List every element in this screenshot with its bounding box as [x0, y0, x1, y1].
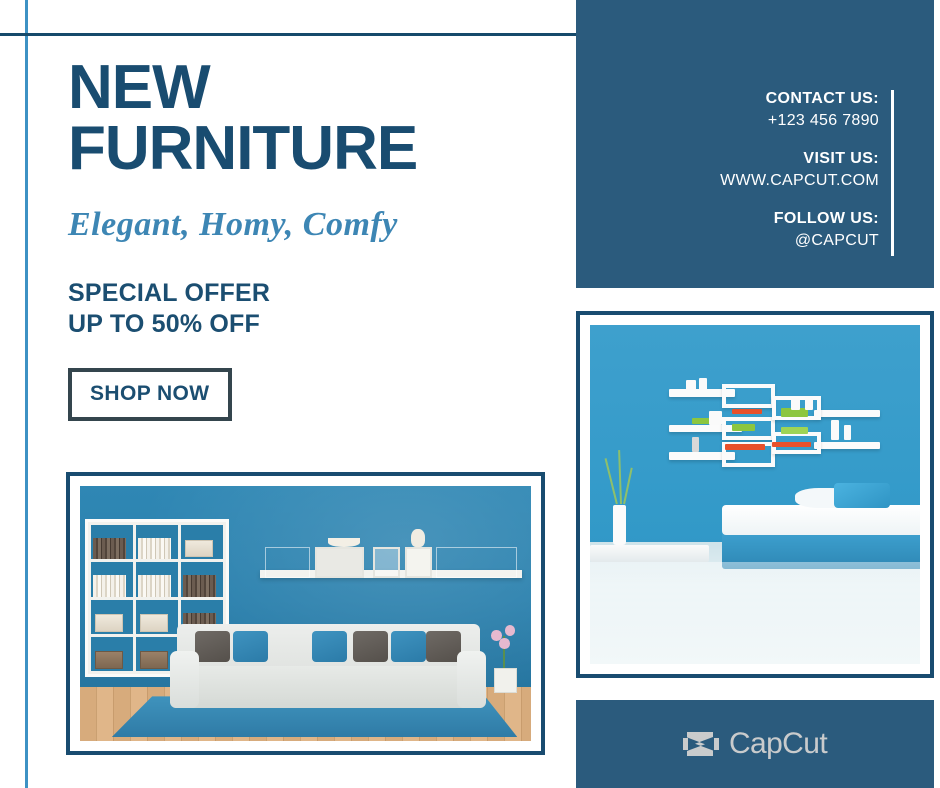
lr-shelf-cell — [91, 637, 133, 671]
lr-books — [183, 575, 216, 596]
br-book-red — [725, 444, 765, 449]
br-book-white — [709, 411, 722, 425]
br-decor-bottle — [805, 397, 813, 410]
lr-sofa — [170, 624, 486, 716]
lr-shelf-cell — [181, 562, 223, 596]
br-floor-vase — [613, 505, 626, 546]
lr-shelf-cell — [91, 600, 133, 634]
follow-us-label: FOLLOW US: — [720, 208, 879, 230]
contact-us-label: CONTACT US: — [720, 88, 879, 110]
lr-pillow-gray — [353, 631, 388, 662]
br-decor-vase — [844, 425, 851, 440]
lr-wall-frame-left — [265, 547, 310, 578]
lr-shelf-cell — [181, 525, 223, 559]
contact-details: CONTACT US: +123 456 7890 VISIT US: WWW.… — [720, 88, 879, 252]
br-decor-bottle — [791, 398, 799, 410]
left-content-column: NEW FURNITURE Elegant, Homy, Comfy SPECI… — [68, 58, 548, 421]
lr-wall-frame-right — [436, 547, 517, 578]
lr-wall-box-1 — [315, 547, 365, 578]
main-photo-frame — [66, 472, 545, 755]
lr-wall-box-3 — [405, 547, 432, 578]
contact-phone-value[interactable]: +123 456 7890 — [720, 110, 879, 132]
br-decor-bottle — [699, 378, 707, 391]
lr-storage-box — [95, 614, 123, 632]
br-decor-vase — [831, 420, 839, 440]
lr-storage-box — [140, 651, 168, 669]
capcut-wordmark: CapCut — [729, 727, 827, 761]
poster-canvas: NEW FURNITURE Elegant, Homy, Comfy SPECI… — [0, 0, 940, 788]
left-vertical-rule — [25, 0, 28, 788]
living-room-photo — [80, 486, 531, 741]
br-shelf-plank — [814, 442, 880, 449]
lr-storage-box — [95, 651, 123, 669]
lr-shelf-cell — [91, 525, 133, 559]
br-shelf-plank — [814, 410, 880, 417]
lr-flower — [499, 638, 510, 649]
contact-group-website: VISIT US: WWW.CAPCUT.COM — [720, 148, 879, 191]
lr-plant-pot — [494, 668, 517, 693]
subtitle: Elegant, Homy, Comfy — [68, 206, 548, 244]
br-decor-lamp — [692, 437, 699, 452]
headline-line-2: FURNITURE — [68, 119, 548, 180]
br-book-red — [772, 442, 812, 447]
lr-sofa-arm-left — [170, 651, 198, 708]
lr-pillow-gray — [426, 631, 461, 662]
lr-decor-vase — [411, 529, 425, 547]
secondary-photo-frame — [576, 311, 934, 678]
lr-sofa-arm-right — [457, 651, 485, 708]
br-book-green — [781, 427, 807, 434]
lr-pillow-gray — [195, 631, 230, 662]
br-decor-bottle — [686, 380, 696, 390]
contact-group-phone: CONTACT US: +123 456 7890 — [720, 88, 879, 131]
capcut-brand-panel: CapCut — [576, 700, 934, 788]
contact-website-value[interactable]: WWW.CAPCUT.COM — [720, 170, 879, 192]
lr-shelf-cell — [91, 562, 133, 596]
lr-pillow-blue — [391, 631, 426, 662]
visit-us-label: VISIT US: — [720, 148, 879, 170]
lr-shelf-cell — [136, 562, 178, 596]
lr-pillow-blue — [233, 631, 268, 662]
lr-sofa-seat — [170, 666, 486, 708]
br-pillow-blue — [834, 483, 890, 508]
bedroom-photo — [590, 325, 920, 664]
lr-flower — [505, 625, 516, 636]
offer-line-1: SPECIAL OFFER — [68, 278, 548, 309]
lr-storage-box — [140, 614, 168, 632]
lr-wall-box-2 — [373, 547, 400, 578]
lr-plant — [484, 626, 525, 692]
lr-shelf-cell — [136, 525, 178, 559]
lr-books — [93, 538, 126, 559]
special-offer-block: SPECIAL OFFER UP TO 50% OFF — [68, 278, 548, 341]
br-low-table — [590, 545, 709, 562]
br-book-green — [732, 424, 755, 431]
lr-storage-box — [185, 540, 213, 558]
br-shelf-box — [722, 384, 775, 408]
contact-panel: CONTACT US: +123 456 7890 VISIT US: WWW.… — [576, 0, 934, 288]
headline-line-1: NEW — [68, 53, 210, 122]
br-book-red — [732, 409, 762, 414]
capcut-logo-icon — [683, 729, 719, 759]
offer-line-2: UP TO 50% OFF — [68, 309, 548, 340]
lr-books — [138, 538, 171, 559]
contact-vertical-divider — [891, 90, 894, 256]
contact-group-social: FOLLOW US: @CAPCUT — [720, 208, 879, 251]
lr-books — [138, 575, 171, 596]
shop-now-button[interactable]: SHOP NOW — [68, 368, 232, 421]
page-title: NEW FURNITURE — [68, 58, 548, 180]
lr-books — [93, 575, 126, 596]
contact-social-value[interactable]: @CAPCUT — [720, 230, 879, 252]
lr-pillow-blue — [312, 631, 347, 662]
br-bed-mattress — [722, 505, 920, 536]
